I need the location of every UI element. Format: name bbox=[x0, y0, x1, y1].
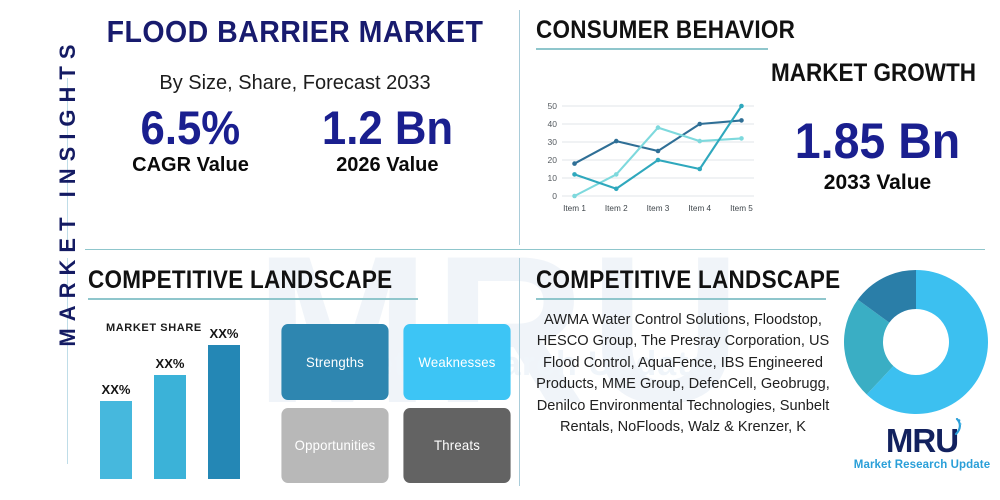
market-share-title: MARKET SHARE bbox=[106, 322, 202, 334]
swot-cell-opportunities[interactable]: Opportunities bbox=[281, 408, 388, 484]
market-share-bar-rect bbox=[208, 345, 240, 479]
y-axis-tick: 10 bbox=[548, 173, 558, 183]
stat-cagr-value: 6.5% bbox=[136, 103, 245, 152]
consumer-behavior-line-chart: 01020304050Item 1Item 2Item 3Item 4Item … bbox=[536, 100, 760, 218]
side-label-market-insights: MARKET INSIGHTS bbox=[55, 0, 81, 402]
x-axis-tick: Item 5 bbox=[730, 204, 753, 213]
data-point bbox=[614, 187, 619, 192]
competitive-landscape-right-underline bbox=[536, 298, 826, 300]
market-growth-label: 2033 Value bbox=[770, 171, 985, 195]
line-chart-svg: 01020304050Item 1Item 2Item 3Item 4Item … bbox=[536, 100, 760, 218]
y-axis-tick: 50 bbox=[548, 101, 558, 111]
title-block: FLOOD BARRIER MARKET By Size, Share, For… bbox=[80, 14, 510, 177]
swot-cell-weaknesses[interactable]: Weaknesses bbox=[403, 324, 510, 400]
x-axis-tick: Item 2 bbox=[605, 204, 628, 213]
page-subtitle: By Size, Share, Forecast 2033 bbox=[80, 72, 510, 95]
market-share-donut-chart bbox=[842, 268, 990, 416]
donut-svg bbox=[842, 268, 990, 416]
data-point bbox=[656, 125, 661, 130]
competitive-landscape-left-heading: COMPETITIVE LANDSCAPE bbox=[88, 266, 466, 295]
market-share-bar-1: XX% bbox=[100, 382, 132, 479]
infographic-root: MRU Market Research Update MARKET INSIGH… bbox=[0, 0, 1000, 500]
data-point bbox=[656, 158, 661, 163]
market-share-bar-label: XX% bbox=[156, 356, 185, 371]
competitive-landscape-left-underline bbox=[88, 298, 418, 300]
competitive-landscape-left-panel: COMPETITIVE LANDSCAPE bbox=[88, 266, 508, 300]
data-point bbox=[697, 167, 702, 172]
data-point bbox=[656, 149, 661, 154]
x-axis-tick: Item 3 bbox=[647, 204, 670, 213]
divider-horizontal bbox=[85, 249, 985, 250]
market-share-bar-rect bbox=[100, 401, 132, 479]
swot-cell-threats[interactable]: Threats bbox=[403, 408, 510, 484]
consumer-behavior-heading: CONSUMER BEHAVIOR bbox=[536, 16, 932, 45]
swot-grid: StrengthsWeaknessesOpportunitiesThreats bbox=[278, 318, 514, 483]
y-axis-tick: 30 bbox=[548, 137, 558, 147]
swot-cell-strengths[interactable]: Strengths bbox=[281, 324, 388, 400]
page-title: FLOOD BARRIER MARKET bbox=[97, 14, 493, 50]
data-point bbox=[614, 172, 619, 177]
data-point bbox=[739, 118, 744, 123]
logo-swoosh-icon bbox=[950, 418, 962, 436]
market-share-bar-rect bbox=[154, 375, 186, 479]
company-list: AWMA Water Control Solutions, Floodstop,… bbox=[524, 310, 842, 439]
market-growth-value: 1.85 Bn bbox=[778, 115, 978, 168]
data-point bbox=[739, 136, 744, 141]
y-axis-tick: 20 bbox=[548, 155, 558, 165]
x-axis-tick: Item 1 bbox=[563, 204, 586, 213]
market-share-bar-2: XX% bbox=[154, 356, 186, 479]
logo-tagline: Market Research Update bbox=[852, 459, 992, 471]
stat-2026-label: 2026 Value bbox=[317, 154, 458, 177]
data-point bbox=[739, 104, 744, 109]
stat-cagr-label: CAGR Value bbox=[132, 154, 249, 177]
data-point bbox=[614, 139, 619, 144]
y-axis-tick: 0 bbox=[552, 191, 557, 201]
y-axis-tick: 40 bbox=[548, 119, 558, 129]
market-growth-heading: MARKET GROWTH bbox=[580, 59, 976, 88]
consumer-behavior-panel: CONSUMER BEHAVIOR MARKET GROWTH bbox=[536, 16, 976, 88]
line-series-series-teal bbox=[575, 106, 742, 189]
brand-logo: MRU Market Research Update bbox=[852, 424, 992, 471]
divider-center-vertical-bottom bbox=[519, 258, 520, 486]
data-point bbox=[572, 172, 577, 177]
divider-center-vertical-top bbox=[519, 10, 520, 245]
market-growth-block: 1.85 Bn 2033 Value bbox=[770, 115, 985, 195]
data-point bbox=[697, 122, 702, 127]
market-share-chart: MARKET SHARE XX%XX%XX% bbox=[88, 318, 278, 483]
x-axis-tick: Item 4 bbox=[688, 204, 711, 213]
market-share-bar-label: XX% bbox=[210, 326, 239, 341]
data-point bbox=[697, 139, 702, 144]
stats-row: 6.5% CAGR Value 1.2 Bn 2026 Value bbox=[80, 103, 510, 177]
logo-mark-text: MRU bbox=[886, 424, 958, 457]
consumer-behavior-underline bbox=[536, 48, 768, 50]
data-point bbox=[572, 161, 577, 166]
stat-2026-value: 1.2 Bn bbox=[322, 103, 453, 152]
market-share-bar-label: XX% bbox=[102, 382, 131, 397]
stat-cagr: 6.5% CAGR Value bbox=[132, 103, 249, 177]
data-point bbox=[572, 194, 577, 199]
competitive-landscape-left-body: MARKET SHARE XX%XX%XX% StrengthsWeakness… bbox=[88, 318, 518, 483]
market-share-bar-3: XX% bbox=[208, 326, 240, 479]
market-share-bars: XX%XX%XX% bbox=[100, 339, 275, 479]
stat-2026: 1.2 Bn 2026 Value bbox=[317, 103, 458, 177]
